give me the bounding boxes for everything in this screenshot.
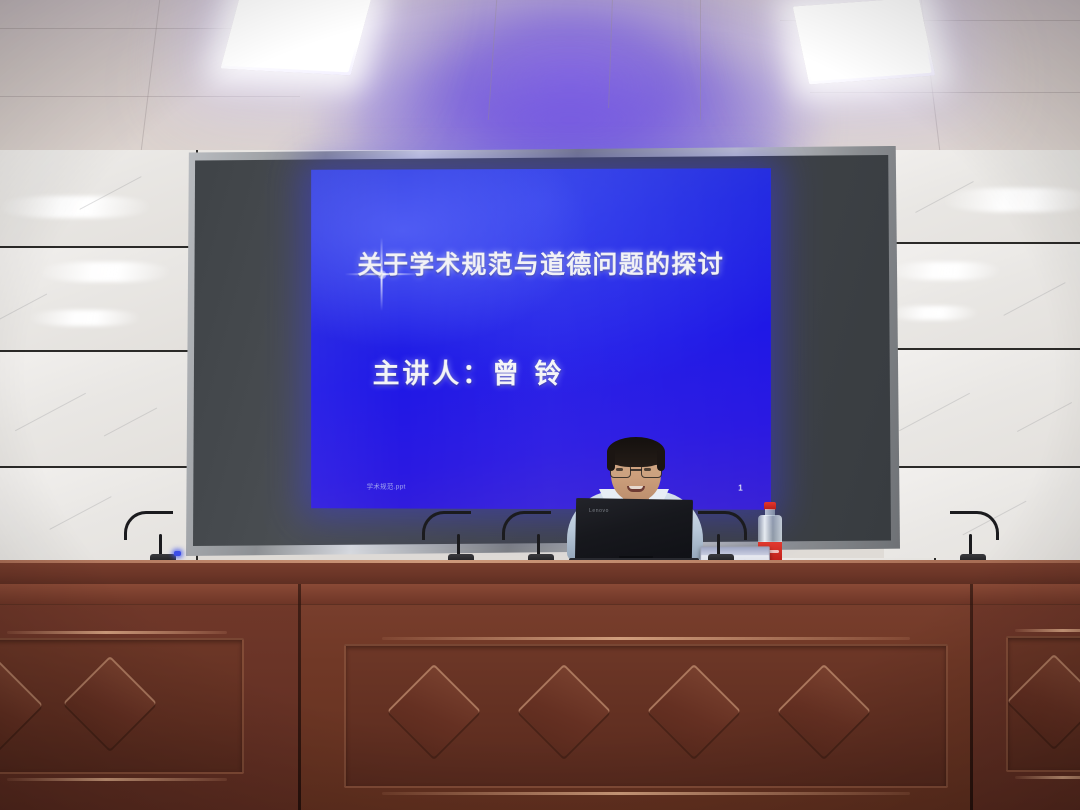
microphone-stem	[537, 534, 540, 556]
podium-cap	[0, 584, 300, 605]
diamond-carving	[0, 661, 41, 752]
podium-cap	[300, 584, 972, 605]
ceiling-seam	[141, 0, 160, 150]
presenter-hair	[607, 437, 665, 467]
diamond-carving	[65, 659, 156, 750]
diamond-carving	[649, 667, 740, 758]
podium-carved-panel-left	[0, 638, 244, 774]
microphone-gooseneck	[124, 511, 173, 540]
ceiling-seam	[700, 0, 701, 120]
diamond-carving	[1009, 657, 1080, 748]
microphone-stem	[717, 534, 720, 556]
microphone-4	[708, 526, 738, 564]
diamond-carving	[519, 667, 610, 758]
wall-tile	[884, 350, 1080, 468]
ceiling-light-panel-left	[220, 0, 371, 75]
microphone-stem	[159, 534, 162, 556]
slide-subtitle: 主讲人：曾 铃	[373, 352, 565, 391]
wall-tile	[0, 352, 198, 468]
microphone-stem	[969, 534, 972, 556]
video-wall-screen: 关于学术规范与道德问题的探讨 主讲人：曾 铃 学术规范.ppt 1	[186, 146, 900, 556]
podium-carved-panel-center	[344, 644, 948, 788]
ceiling	[0, 0, 1080, 162]
ceiling-seam	[810, 92, 1080, 93]
podium-desktop-highlight	[0, 560, 1080, 563]
microphone-stem	[457, 534, 460, 556]
ceiling-seam	[0, 96, 300, 97]
microphone-gooseneck	[422, 511, 471, 540]
diamond-carving	[779, 667, 870, 758]
microphone-led-indicator	[174, 551, 181, 556]
microphone-1	[150, 528, 180, 564]
wall-tile	[884, 244, 1080, 350]
microphone-5	[960, 524, 990, 564]
slide-page-number: 1	[738, 484, 742, 493]
wooden-podium	[0, 560, 1080, 810]
laptop: Lenovo	[575, 498, 693, 560]
slide-title: 关于学术规范与道德问题的探讨	[311, 245, 771, 282]
podium-divider	[970, 584, 973, 810]
microphone-2	[448, 528, 478, 564]
ceiling-light-panel-right	[793, 0, 936, 84]
podium-divider	[298, 584, 301, 810]
wall-tile	[0, 150, 198, 248]
presentation-slide: 关于学术规范与道德问题的探讨 主讲人：曾 铃 学术规范.ppt 1	[311, 168, 771, 510]
wall-tile	[884, 150, 1080, 244]
podium-desktop	[0, 560, 1080, 586]
podium-cap	[972, 584, 1080, 605]
sparkle-icon	[345, 237, 419, 311]
lecture-hall-photo: 关于学术规范与道德问题的探讨 主讲人：曾 铃 学术规范.ppt 1 Lenovo	[0, 0, 1080, 810]
microphone-3	[528, 524, 558, 564]
podium-carved-panel-right	[1006, 636, 1080, 772]
wall-tile	[0, 248, 198, 352]
laptop-brand-label: Lenovo	[589, 508, 609, 514]
diamond-carving	[389, 667, 480, 758]
microphone-gooseneck	[502, 511, 551, 540]
slide-filename-label: 学术规范.ppt	[367, 481, 406, 491]
